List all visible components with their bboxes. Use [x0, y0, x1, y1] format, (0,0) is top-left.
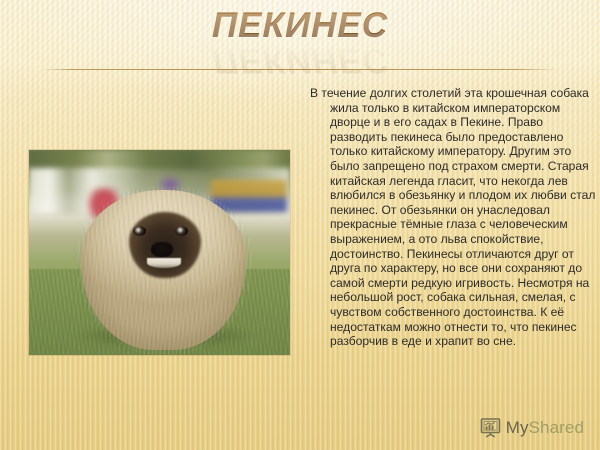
title-divider: [42, 69, 558, 70]
dog-mouth: [147, 258, 181, 268]
page-title: ПЕКИНЕС: [212, 6, 388, 46]
watermark-shared: Shared: [529, 418, 584, 437]
dog-eye-left: [133, 226, 146, 236]
presentation-slide: ПЕКИНЕС ПЕКИНЕС В течение долгих столети…: [0, 0, 600, 450]
dog-eye-right: [175, 226, 188, 236]
watermark-my: My: [506, 418, 529, 437]
myshared-watermark: MyShared: [480, 417, 584, 438]
watermark-label: MyShared: [506, 419, 584, 437]
dog-nose: [151, 242, 173, 257]
slide-body-text: В течение долгих столетий эта крошечная …: [310, 86, 598, 349]
presentation-chart-icon: [480, 417, 501, 438]
pekingese-photo: [29, 150, 290, 355]
page-title-reflection: ПЕКИНЕС: [0, 40, 600, 80]
slide-title-area: ПЕКИНЕС ПЕКИНЕС: [0, 6, 600, 68]
